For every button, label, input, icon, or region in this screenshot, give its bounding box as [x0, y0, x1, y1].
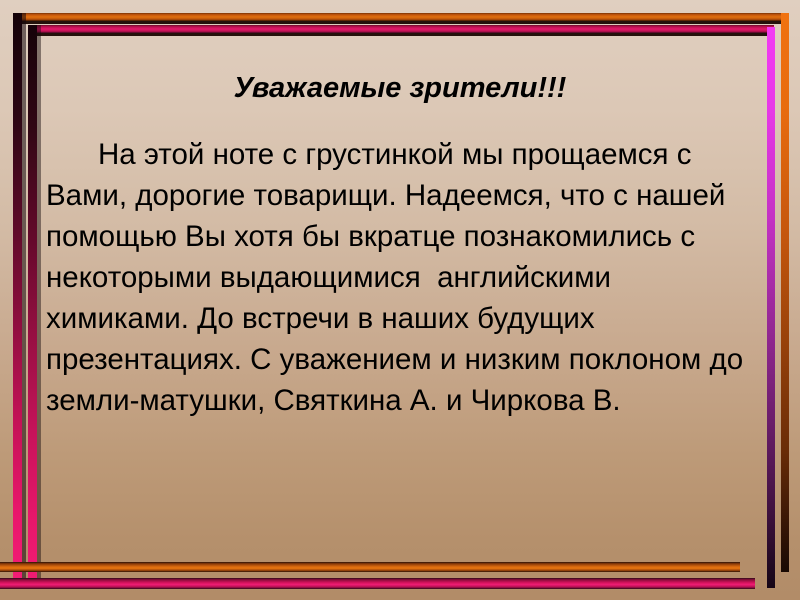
- frame-left-inner-bar: [28, 25, 37, 589]
- frame-bottom-inner-bar: [0, 578, 755, 589]
- slide-title: Уважаемые зрители!!!: [0, 72, 800, 105]
- frame-bottom-outer-bar: [0, 562, 740, 572]
- frame-left-inner-bar-shadow: [37, 25, 41, 589]
- frame-top-inner-bar: [28, 25, 774, 33]
- slide-canvas: Уважаемые зрители!!! На этой ноте с грус…: [0, 0, 800, 600]
- slide-body-text: На этой ноте с грустинкой мы прощаемся с…: [46, 134, 756, 421]
- frame-top-outer-bar: [13, 13, 787, 21]
- frame-top-outer-bar-shadow: [13, 21, 787, 24]
- frame-right-inner-bar: [767, 27, 775, 588]
- frame-top-inner-bar-shadow: [28, 33, 774, 36]
- slide-body-paragraph: На этой ноте с грустинкой мы прощаемся с…: [46, 138, 751, 417]
